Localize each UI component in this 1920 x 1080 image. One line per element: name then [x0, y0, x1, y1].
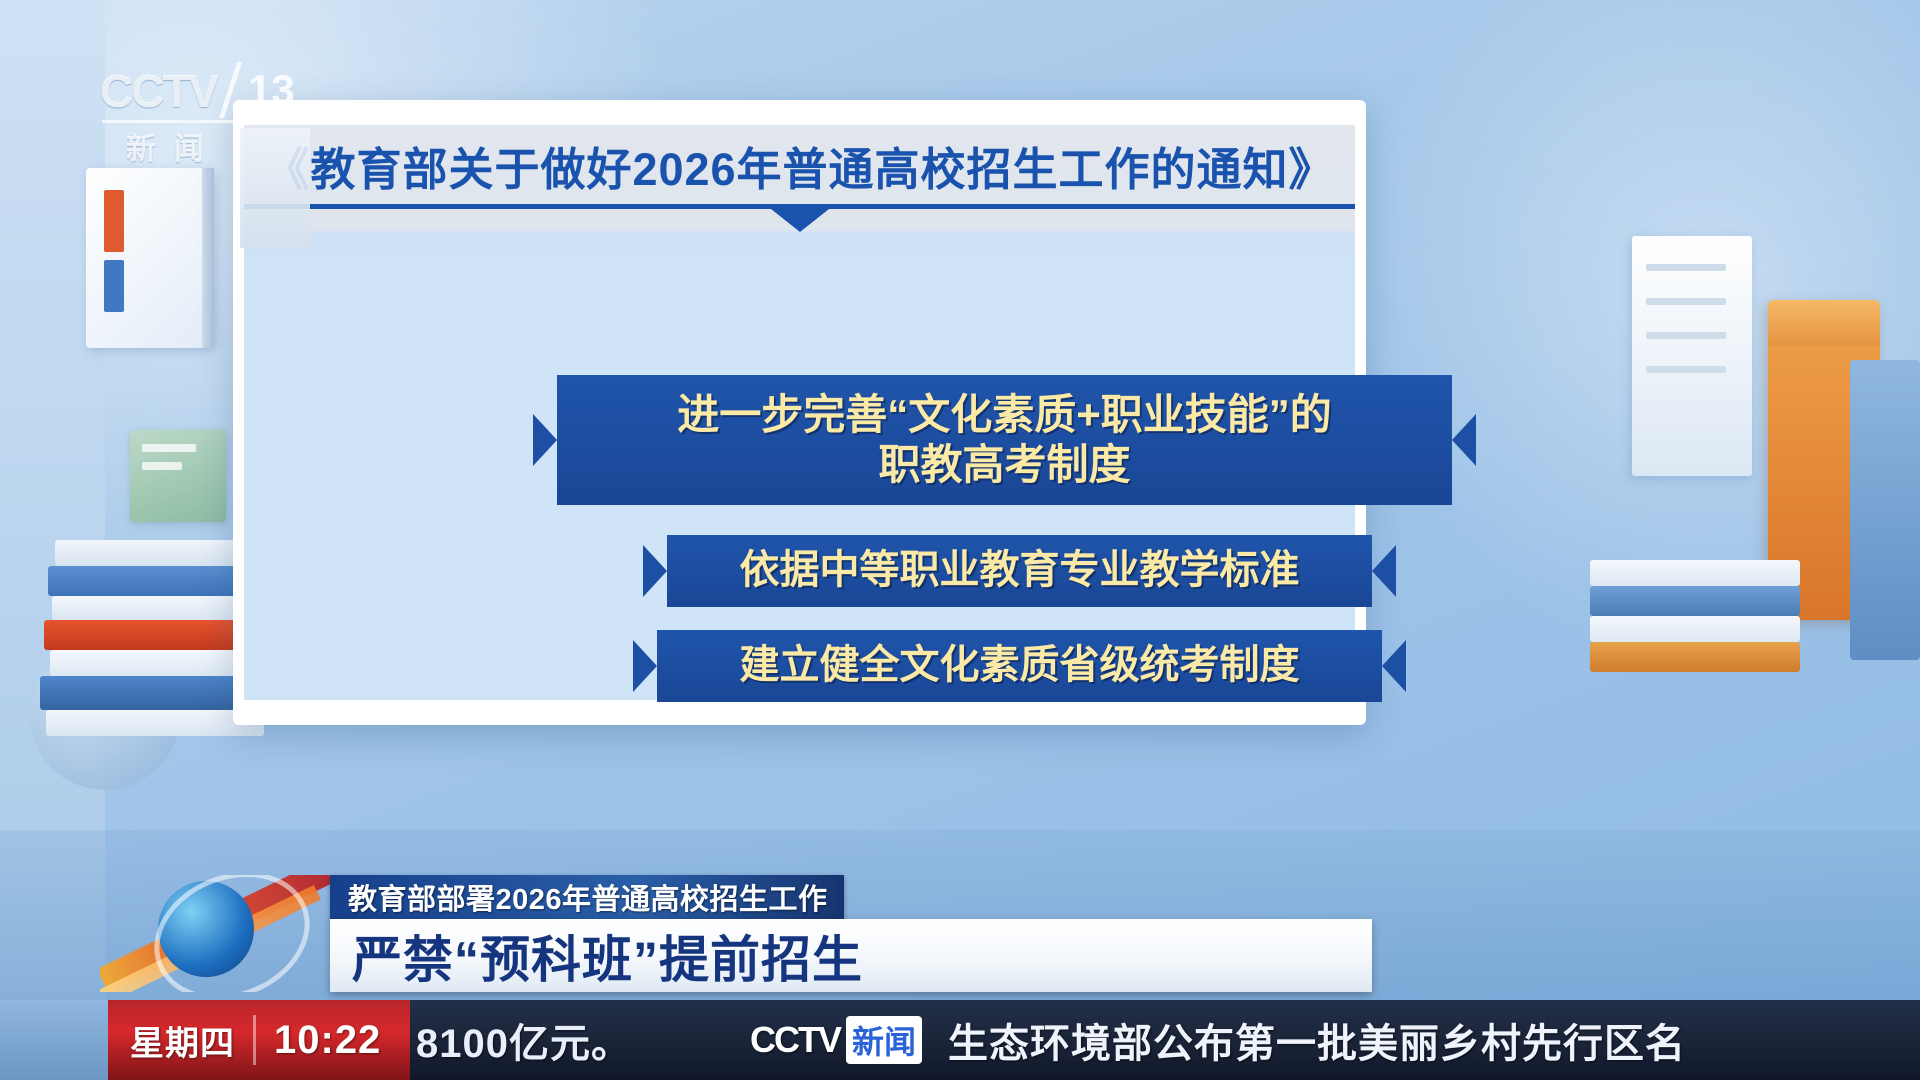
cctv-logo-subtitle: 新闻 [126, 124, 222, 168]
document-graphic-panel: 《教育部关于做好2026年普通高校招生工作的通知》 进一步完善“文化素质+职业技… [233, 100, 1366, 725]
ticker-logo-tv: TV [798, 1019, 840, 1060]
ticker-clock-block: 星期四 10:22 [108, 1000, 410, 1080]
lower-third-headline-text: 严禁“预科班”提前招生 [352, 920, 863, 992]
document-title: 《教育部关于做好2026年普通高校招生工作的通知》 [244, 133, 1355, 198]
broadcast-screen: CCTV 13 新闻 《教育部关于做好2026年普通高校招生工作的通知》 进一步… [0, 0, 1920, 1080]
news-ticker: 星期四 10:22 8100亿元。 CCTV 新闻 生态环境部公布第一批美丽乡村… [0, 1000, 1920, 1080]
decor-book-stack-item [55, 540, 255, 566]
ticker-left-accent [0, 1000, 108, 1080]
lower-third: 教育部部署2026年普通高校招生工作 严禁“预科班”提前招生 [330, 875, 1372, 992]
point-row-3: 建立健全文化素质省级统考制度 [633, 630, 1406, 702]
decor-book-stack-item [46, 710, 264, 736]
lower-third-globe-graphic [100, 875, 332, 992]
decor-green-book [130, 430, 226, 522]
ticker-time: 10:22 [274, 1018, 381, 1063]
decor-book-stack-item [52, 596, 258, 620]
decor-right-shelf [1632, 236, 1752, 476]
decor-open-book [86, 168, 214, 348]
point-row-1: 进一步完善“文化素质+职业技能”的 职教高考制度 [533, 375, 1476, 505]
ticker-weekday: 星期四 [130, 1016, 235, 1065]
point-chip-2: 依据中等职业教育专业教学标准 [667, 535, 1372, 607]
cctv-logo-slash [219, 62, 242, 118]
ticker-headline: 生态环境部公布第一批美丽乡村先行区名 [948, 1011, 1686, 1069]
point-text-2: 依据中等职业教育专业教学标准 [740, 547, 1300, 594]
cctv13-watermark-logo: CCTV 13 新闻 [100, 64, 315, 164]
point-text-1-line1: 进一步完善“文化素质+职业技能”的 [677, 390, 1332, 440]
cctv-logo-underline [102, 120, 288, 123]
cctv-news-ticker-logo: CCTV 新闻 [750, 1016, 922, 1064]
ticker-divider [253, 1015, 256, 1065]
lower-third-headline-bar: 严禁“预科班”提前招生 [330, 919, 1372, 992]
lower-third-topic-text: 教育部部署2026年普通高校招生工作 [348, 876, 828, 918]
point-row-2: 依据中等职业教育专业教学标准 [643, 535, 1396, 607]
cctv-logo-text: CCTV [100, 64, 217, 118]
point-text-3: 建立健全文化素质省级统考制度 [740, 642, 1300, 689]
ticker-logo-letters: CCTV [750, 1019, 840, 1061]
decor-bookmark-blue [104, 260, 124, 312]
arrow-left-icon [633, 640, 657, 692]
title-caret-icon [771, 209, 829, 232]
cctv-logo-number: 13 [248, 66, 295, 114]
arrow-left-icon [533, 414, 557, 466]
arrow-right-icon [1382, 640, 1406, 692]
arrow-right-icon [1372, 545, 1396, 597]
decor-book-stack-item [50, 650, 260, 676]
lower-third-topic-bar: 教育部部署2026年普通高校招生工作 [330, 875, 844, 919]
decor-book-stack-item [48, 566, 262, 596]
arrow-right-icon [1452, 414, 1476, 466]
ticker-logo-cc: CC [750, 1019, 798, 1060]
decor-blue-binder [1850, 360, 1920, 660]
point-chip-3: 建立健全文化素质省级统考制度 [657, 630, 1382, 702]
decor-book-pages [202, 168, 214, 348]
decor-book-stack-item [44, 620, 264, 650]
point-chip-1: 进一步完善“文化素质+职业技能”的 职教高考制度 [557, 375, 1452, 505]
ticker-previous-text: 8100亿元。 [416, 1011, 632, 1069]
decor-right-book-stack [1590, 560, 1800, 680]
point-text-1-line2: 职教高考制度 [878, 440, 1130, 490]
decor-bookmark-orange [104, 190, 124, 252]
ticker-logo-sub: 新闻 [846, 1016, 922, 1064]
arrow-left-icon [643, 545, 667, 597]
ticker-scroll-area[interactable]: 8100亿元。 CCTV 新闻 生态环境部公布第一批美丽乡村先行区名 [410, 1000, 1920, 1080]
